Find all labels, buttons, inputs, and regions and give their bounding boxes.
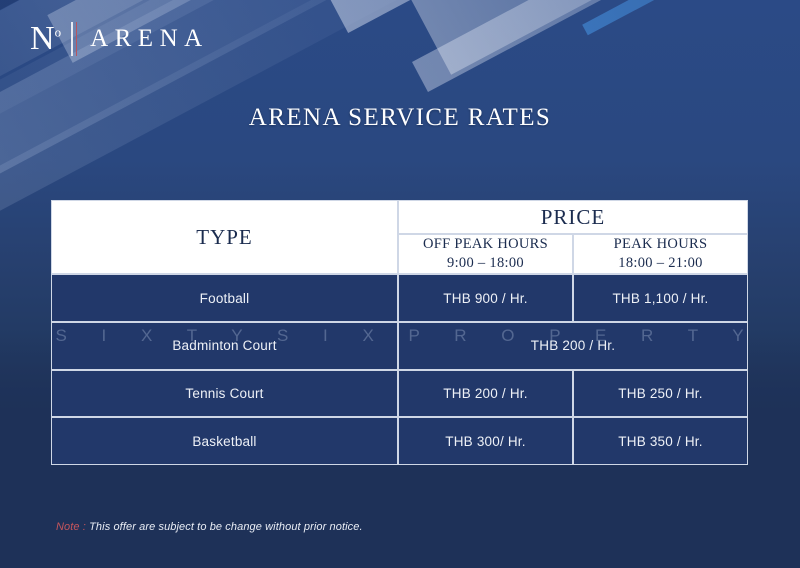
header-peak-time: 18:00 – 21:00 (578, 254, 743, 273)
cell-type: Badminton Court (51, 322, 398, 370)
streak-accent (582, 0, 800, 35)
header-offpeak-time: 9:00 – 18:00 (403, 254, 568, 273)
page-title: ARENA SERVICE RATES (0, 104, 800, 132)
cell-offpeak: THB 900 / Hr. (398, 274, 573, 322)
header-peak: PEAK HOURS 18:00 – 21:00 (573, 234, 748, 274)
cell-price-merged: THB 200 / Hr. (398, 322, 748, 370)
rates-table-body: Football THB 900 / Hr. THB 1,100 / Hr. B… (51, 274, 748, 465)
cell-peak: THB 1,100 / Hr. (573, 274, 748, 322)
brand-logo: No ARENA (30, 20, 209, 58)
rates-table: TYPE PRICE OFF PEAK HOURS 9:00 – 18:00 P… (51, 200, 748, 465)
cell-type: Basketball (51, 417, 398, 465)
footer-note: Note : This offer are subject to be chan… (56, 521, 363, 533)
streak (292, 0, 800, 33)
cell-type: Tennis Court (51, 370, 398, 418)
note-label: Note : (56, 521, 86, 533)
logo-wordmark: ARENA (90, 25, 209, 53)
table-header-row-1: TYPE PRICE (51, 200, 748, 234)
table-row: Tennis Court THB 200 / Hr. THB 250 / Hr. (51, 370, 748, 418)
cell-peak: THB 350 / Hr. (573, 417, 748, 465)
rates-table-wrapper: TYPE PRICE OFF PEAK HOURS 9:00 – 18:00 P… (51, 200, 748, 465)
table-row: Football THB 900 / Hr. THB 1,100 / Hr. (51, 274, 748, 322)
logo-n-mark: No (30, 22, 61, 56)
cell-peak: THB 250 / Hr. (573, 370, 748, 418)
cell-type: Football (51, 274, 398, 322)
header-offpeak-label: OFF PEAK HOURS (403, 235, 568, 254)
cell-offpeak: THB 200 / Hr. (398, 370, 573, 418)
header-price: PRICE (398, 200, 748, 234)
table-row: Badminton Court THB 200 / Hr. (51, 322, 748, 370)
panel (409, 0, 769, 75)
header-peak-label: PEAK HOURS (578, 235, 743, 254)
streak (412, 0, 800, 92)
logo-divider (70, 22, 79, 56)
note-text: This offer are subject to be change with… (89, 521, 363, 533)
header-offpeak: OFF PEAK HOURS 9:00 – 18:00 (398, 234, 573, 274)
table-row: Basketball THB 300/ Hr. THB 350 / Hr. (51, 417, 748, 465)
cell-offpeak: THB 300/ Hr. (398, 417, 573, 465)
header-type: TYPE (51, 200, 398, 274)
